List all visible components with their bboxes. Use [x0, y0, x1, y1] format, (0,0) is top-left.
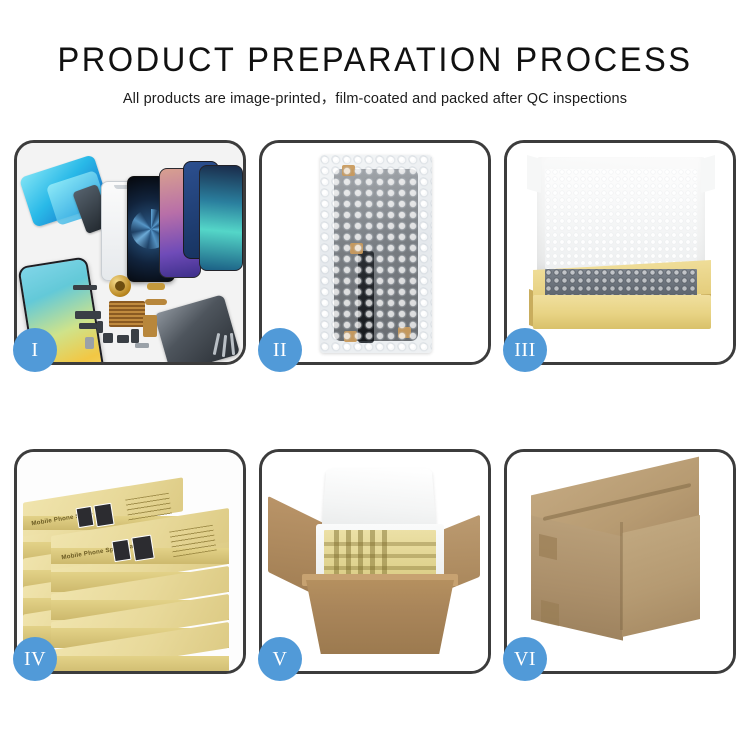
process-steps-grid: I II	[14, 140, 736, 674]
step-badge-3: III	[503, 328, 547, 372]
part-chip	[73, 285, 97, 290]
product-preparation-process-page: PRODUCT PREPARATION PROCESS All products…	[0, 0, 750, 750]
page-subtitle: All products are image-printed，film-coat…	[0, 90, 750, 108]
speaker-module	[109, 275, 131, 297]
part-chip	[103, 333, 113, 343]
box-artwork-screen	[131, 535, 155, 562]
carton-packing-scene	[262, 452, 488, 671]
step-image-2	[262, 143, 488, 362]
step-panel-5: V	[259, 449, 491, 674]
wrapped-flex-cable	[358, 251, 374, 343]
wrapped-screen	[334, 169, 418, 341]
step-panel-4: Mobile Phone Spare Parts Mobile Phone Sp…	[14, 449, 246, 674]
foam-box-scene	[507, 143, 733, 362]
part-chip	[79, 323, 97, 329]
foam-box-lid	[321, 469, 436, 531]
logic-board-chip	[109, 301, 145, 327]
screwdriver-tools	[213, 333, 239, 361]
box-front-panel	[533, 295, 711, 329]
bubble-wrap-scene	[262, 143, 488, 362]
step-image-5	[262, 452, 488, 671]
carton-right-face	[622, 515, 700, 637]
step-badge-1: I	[13, 328, 57, 372]
part-chip	[97, 321, 103, 333]
tape-piece	[398, 327, 411, 338]
step-badge-6: VI	[503, 637, 547, 681]
part-chip	[147, 283, 165, 290]
step-badge-5: V	[258, 637, 302, 681]
step-image-1	[17, 143, 243, 362]
retail-box-stack: Mobile Phone Spare Parts Mobile Phone Sp…	[21, 466, 241, 664]
step-image-6	[507, 452, 733, 671]
part-chip	[131, 329, 139, 343]
teal-gradient-phone	[199, 165, 243, 271]
tape-piece	[350, 243, 363, 254]
sealed-carton-scene	[507, 452, 733, 671]
phone-parts-scene	[17, 143, 243, 362]
step-image-4: Mobile Phone Spare Parts Mobile Phone Sp…	[17, 452, 243, 671]
step-panel-3: III	[504, 140, 736, 365]
carton-tape-lower	[541, 600, 559, 626]
step-badge-4: IV	[13, 637, 57, 681]
carton-front-panel	[306, 580, 454, 654]
flex-cable	[143, 315, 157, 337]
stacked-box	[51, 636, 229, 662]
flex-cable	[145, 299, 167, 305]
carton-vertical-edge	[620, 522, 623, 630]
yellow-boxes-inside	[324, 530, 436, 576]
carton-tape-upper	[539, 534, 557, 560]
part-chip	[85, 337, 94, 349]
bubble-wrap-bag	[320, 155, 432, 353]
step-panel-6: VI	[504, 449, 736, 674]
page-header: PRODUCT PREPARATION PROCESS All products…	[0, 0, 750, 108]
printed-box-top-front: Mobile Phone Spare Parts	[51, 522, 229, 556]
box-artwork-screen	[111, 539, 131, 562]
step-badge-2: II	[258, 328, 302, 372]
part-chip	[75, 311, 101, 319]
step-panel-1: I	[14, 140, 246, 365]
page-title: PRODUCT PREPARATION PROCESS	[15, 40, 735, 80]
step-panel-2: II	[259, 140, 491, 365]
box-stack-scene: Mobile Phone Spare Parts Mobile Phone Sp…	[17, 452, 243, 671]
foam-sheet	[545, 169, 697, 269]
part-chip	[117, 335, 129, 343]
bubble-wrapped-units	[545, 269, 697, 297]
part-chip	[135, 343, 149, 348]
step-image-3	[507, 143, 733, 362]
tape-piece	[344, 331, 357, 342]
tape-piece	[342, 165, 355, 176]
